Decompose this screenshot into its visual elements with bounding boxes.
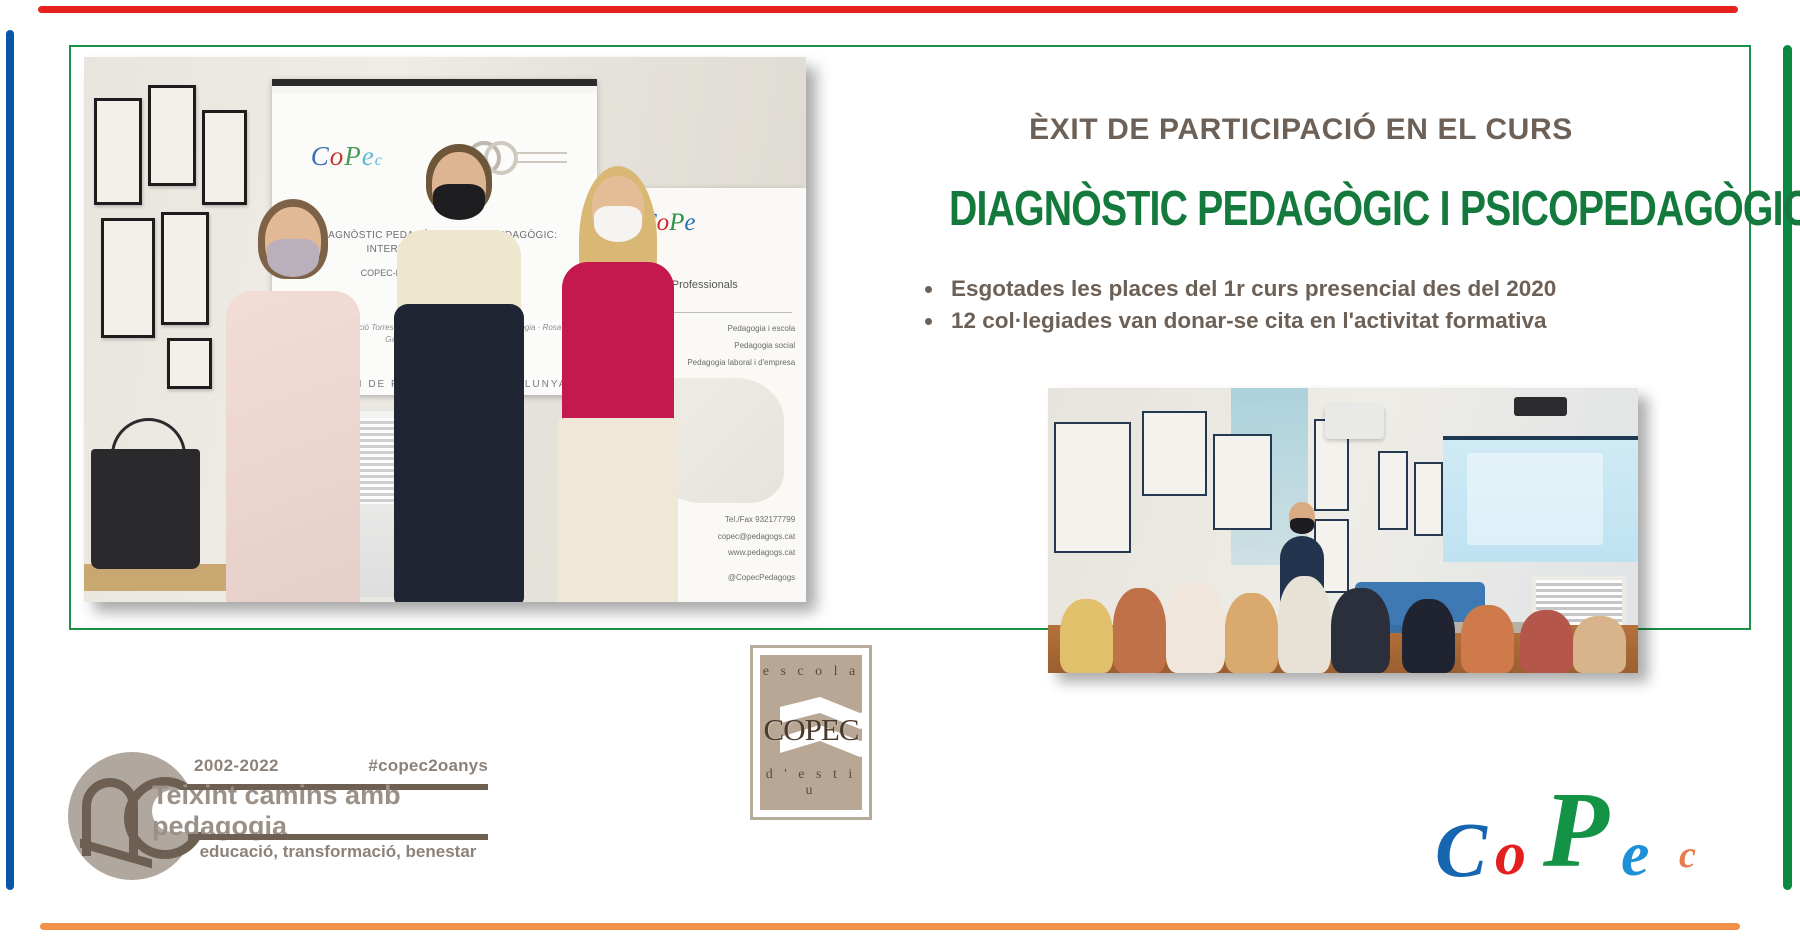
secondary-photo — [1048, 388, 1638, 673]
kicker-heading: ÈXIT DE PARTICIPACIÓ EN EL CURS — [861, 113, 1741, 147]
copec-letter-c2: c — [1679, 833, 1696, 877]
copec-letter-o: o — [1495, 819, 1526, 890]
slide-copec-logo: CoPec — [311, 141, 383, 172]
bullet-item: 12 col·legiades van donar-se cita en l'a… — [945, 305, 1741, 337]
logo-subtitle: educació, transformació, benestar — [188, 842, 488, 862]
logo-escola-destiu: e s c o l a COPEC d ' e s t i u — [750, 645, 872, 820]
left-blue-bar — [6, 30, 14, 890]
copec-letter-c: C — [1435, 805, 1487, 895]
right-green-bar — [1783, 45, 1792, 890]
person-left — [221, 199, 365, 602]
photo-bag — [91, 449, 199, 569]
person-right — [546, 166, 690, 602]
copec-letter-e: e — [1621, 817, 1649, 891]
bullet-item: Esgotades les places del 1r curs presenc… — [945, 273, 1741, 305]
logo-years: 2002-2022 — [194, 756, 279, 776]
bullet-list: Esgotades les places del 1r curs presenc… — [923, 273, 1741, 337]
top-red-bar — [38, 6, 1738, 13]
logo-hashtag: #copec2oanys — [368, 756, 488, 776]
main-photo: CoPec DIAGNÒSTIC PEDAGÒGIC I PSICOPEDAGÒ… — [84, 57, 806, 602]
main-title: DIAGNÒSTIC PEDAGÒGIC I PSICOPEDAGÒGIC — [949, 181, 1653, 237]
bottom-orange-bar — [40, 923, 1740, 930]
logo-claim: Teixint camins amb pedagogia — [152, 780, 500, 842]
escola-middle-text: COPEC — [760, 712, 862, 748]
slide-root: CoPec DIAGNÒSTIC PEDAGÒGIC I PSICOPEDAGÒ… — [0, 0, 1800, 940]
logo-copec: C o P e c — [1425, 775, 1725, 895]
person-center — [387, 144, 531, 602]
logo-20-anys: 2002-2022 #copec2oanys Teixint camins am… — [68, 752, 488, 880]
escola-bottom-text: d ' e s t i u — [760, 767, 862, 799]
escola-top-text: e s c o l a — [760, 664, 862, 680]
copec-letter-p: P — [1543, 769, 1609, 893]
